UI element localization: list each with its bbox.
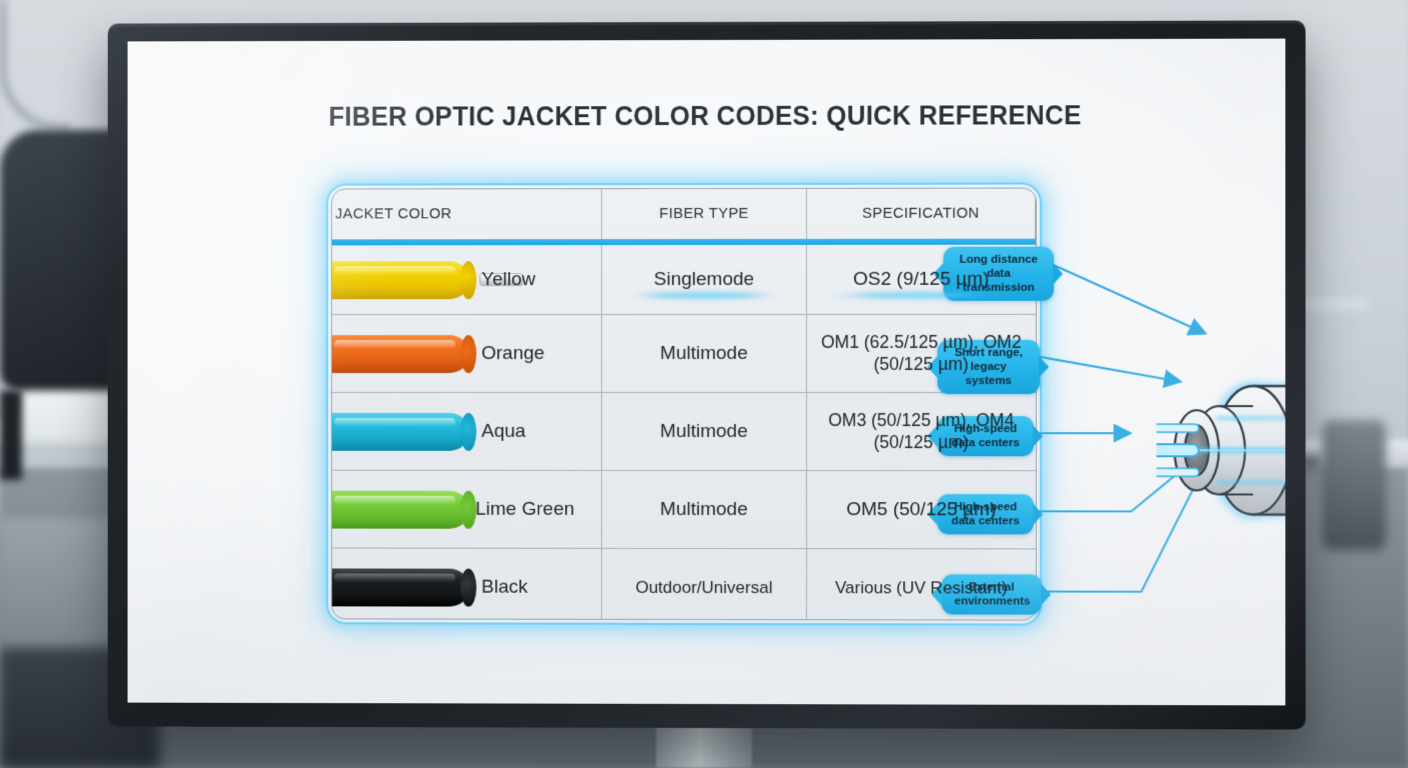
cable-highlight [334, 573, 455, 582]
monitor-stand [656, 726, 752, 768]
jacket-color-label: Yellow [481, 269, 535, 291]
header-label: FIBER TYPE [659, 205, 748, 223]
cable-end-cap [460, 412, 476, 450]
screenshot-scene: FIBER OPTIC JACKET COLOR CODES: QUICK RE… [0, 0, 1408, 768]
cable-cylinder [331, 261, 469, 299]
cable-end-cap [460, 569, 476, 607]
table-row[interactable]: Lime Green Multimode OM5 (50/125 µm) [332, 471, 1036, 550]
cable-end-cap [460, 490, 476, 528]
specification-label: OM1 (62.5/125 µm), OM2 (50/125 µm) [807, 332, 1036, 375]
background-microscope [1322, 420, 1386, 550]
cable-swatch-black [331, 568, 469, 606]
specification-label: OS2 (9/125 µm) [853, 268, 989, 291]
fiber-type-cell: Singlemode [602, 245, 806, 314]
jacket-color-label: Lime Green [475, 498, 574, 520]
header-accent-rule [332, 239, 1036, 246]
jacket-color-cell: Aqua [332, 393, 602, 470]
fiber-type-cell: Multimode [602, 315, 806, 392]
fiber-type-label: Multimode [660, 498, 748, 521]
cable-end-cap [460, 261, 476, 299]
fiber-type-cell: Multimode [602, 471, 806, 548]
cable-highlight [334, 495, 455, 504]
reference-table: JACKET COLOR FIBER TYPE SPECIFICATION [331, 188, 1037, 621]
cable-cylinder [331, 490, 469, 528]
monitor-screen: FIBER OPTIC JACKET COLOR CODES: QUICK RE… [128, 39, 1286, 706]
page-title: FIBER OPTIC JACKET COLOR CODES: QUICK RE… [162, 99, 1250, 133]
table-row[interactable]: Aqua Multimode OM3 (50/125 µm), OM4 (50/… [332, 393, 1036, 471]
fiber-type-label: Singlemode [654, 268, 754, 291]
fiber-type-cell: Outdoor/Universal [602, 549, 806, 621]
monitor-bezel: FIBER OPTIC JACKET COLOR CODES: QUICK RE… [108, 20, 1306, 729]
cable-highlight [334, 340, 455, 349]
table-row[interactable]: Black Outdoor/Universal Various (UV Resi… [332, 549, 1036, 621]
column-header-fiber-type: FIBER TYPE [602, 189, 806, 239]
jacket-color-cell: Yellow [332, 245, 602, 314]
specification-label: OM5 (50/125 µm) [846, 498, 996, 521]
fiber-cable-illustration [1156, 340, 1285, 561]
jacket-color-label: Orange [481, 343, 544, 365]
cable-end-cap [460, 335, 476, 373]
background-chair-post [0, 390, 22, 480]
table-row[interactable]: Yellow Singlemode OS2 (9/125 µm) [332, 245, 1036, 315]
cable-swatch-aqua [331, 412, 469, 450]
table-row[interactable]: Orange Multimode OM1 (62.5/125 µm), OM2 … [332, 315, 1036, 393]
specification-label: OM3 (50/125 µm), OM4 (50/125 µm) [807, 410, 1036, 453]
jacket-color-cell: Lime Green [332, 471, 602, 548]
header-label: JACKET COLOR [335, 205, 452, 223]
exposed-fiber-strands [1156, 424, 1198, 476]
fiber-type-cell: Multimode [602, 393, 806, 470]
fiber-type-label: Multimode [660, 342, 748, 365]
cable-cylinder [331, 335, 469, 373]
cable-cylinder [331, 412, 469, 450]
table-header-row: JACKET COLOR FIBER TYPE SPECIFICATION [332, 189, 1036, 240]
cable-swatch-orange [331, 335, 469, 373]
header-label: SPECIFICATION [862, 205, 979, 223]
cable-swatch-lime-green [331, 490, 469, 528]
specification-cell: OM3 (50/125 µm), OM4 (50/125 µm) [807, 393, 1036, 470]
fiber-type-label: Outdoor/Universal [635, 578, 772, 599]
cable-cylinder [331, 568, 469, 606]
jacket-color-cell: Black [332, 549, 602, 621]
reference-table-container: JACKET COLOR FIBER TYPE SPECIFICATION [331, 188, 1037, 621]
column-header-specification: SPECIFICATION [807, 189, 1036, 239]
jacket-color-label: Black [481, 577, 527, 599]
column-header-jacket-color: JACKET COLOR [332, 189, 602, 239]
jacket-color-cell: Orange [332, 315, 602, 392]
jacket-color-label: Aqua [481, 420, 525, 442]
cable-highlight [334, 417, 455, 426]
fiber-type-label: Multimode [660, 420, 748, 443]
specification-label: Various (UV Resistant) [835, 578, 1007, 599]
cable-highlight [334, 266, 455, 275]
